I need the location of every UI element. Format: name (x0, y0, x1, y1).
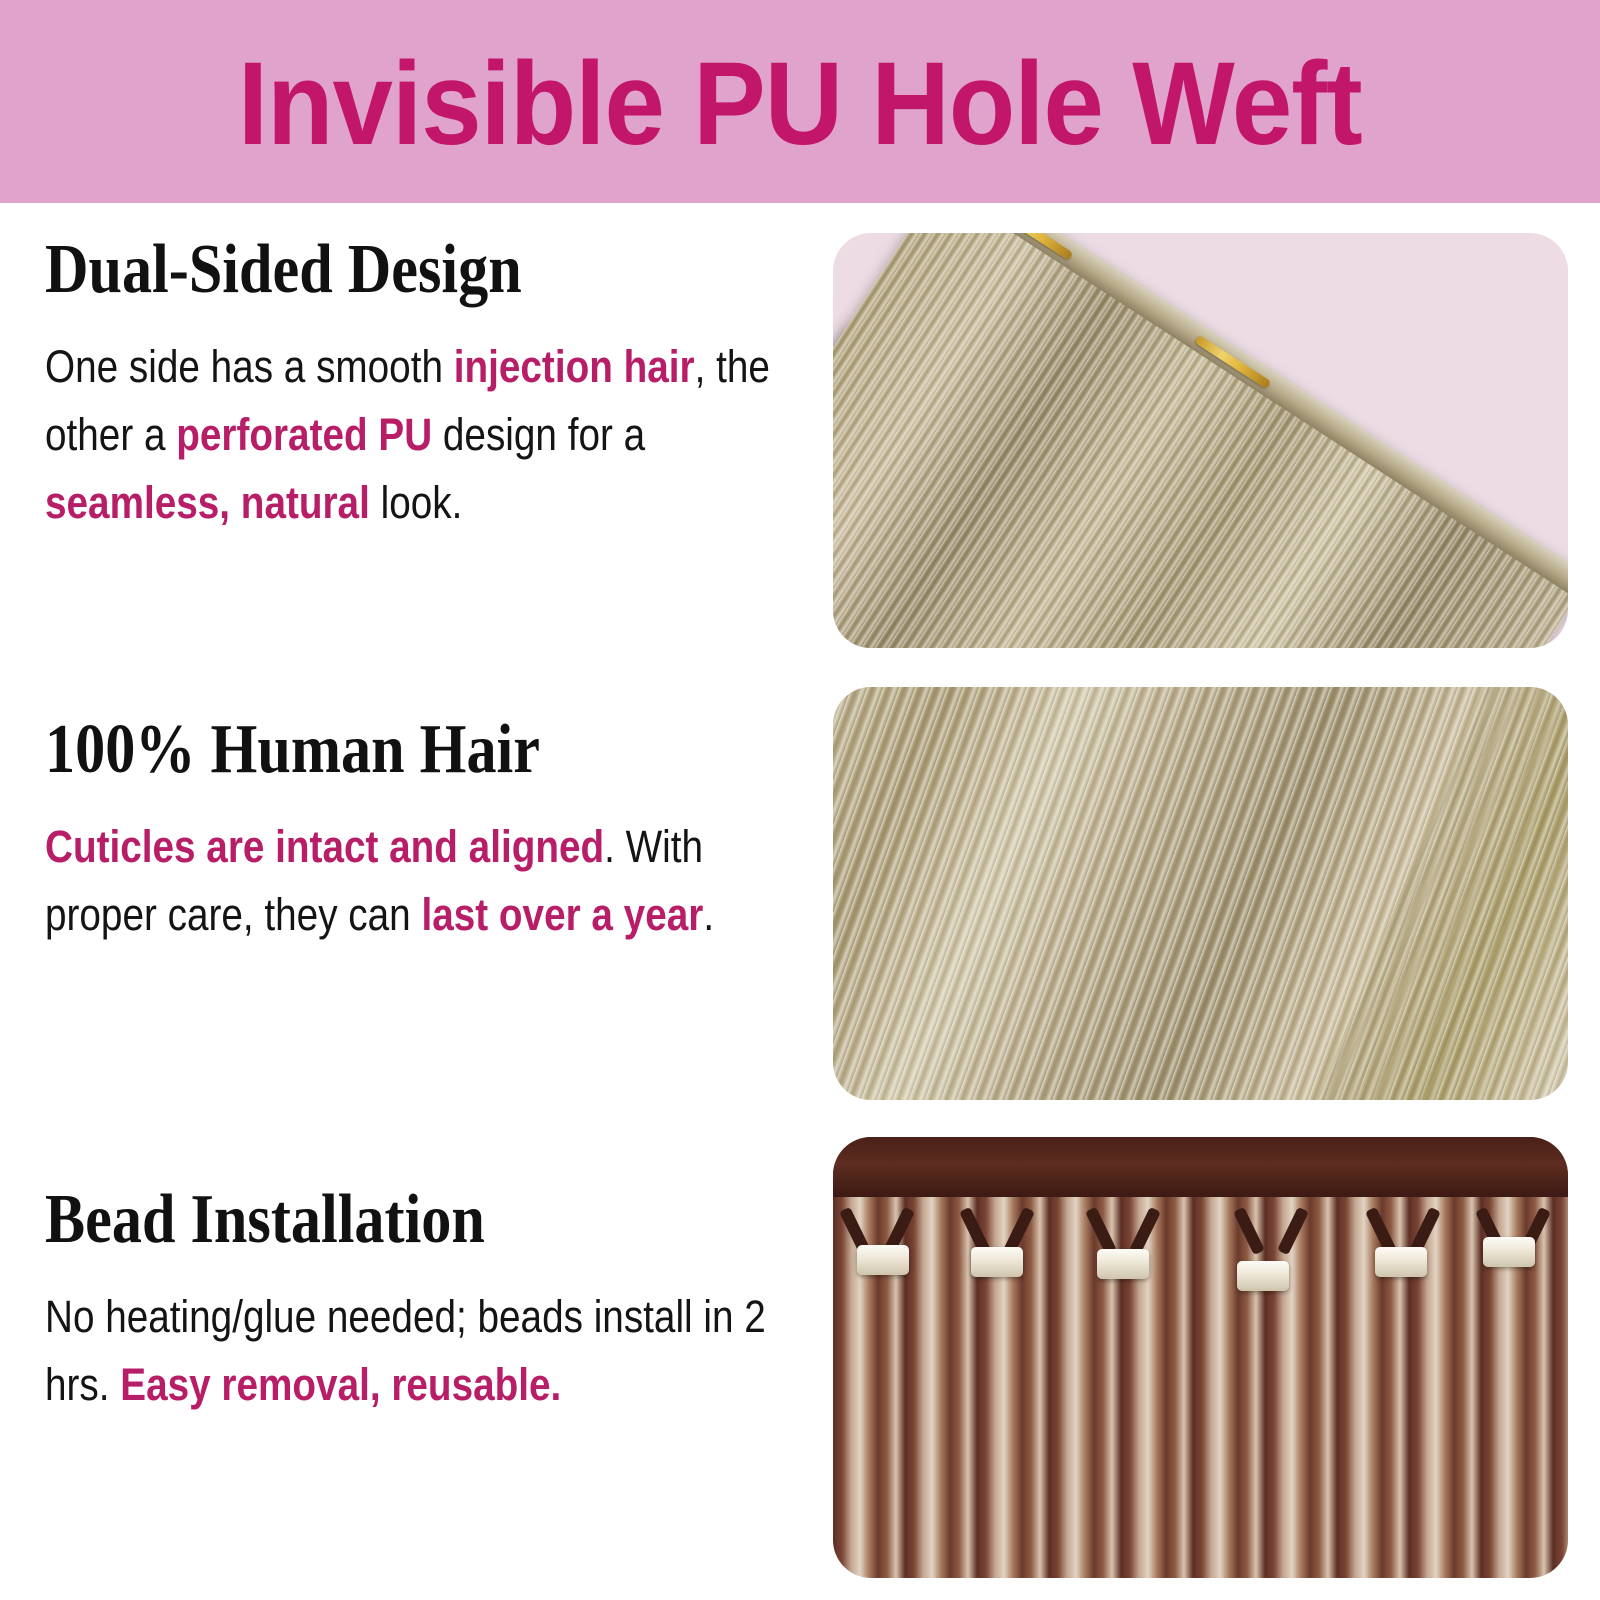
feature-body: One side has a smooth injection hair, th… (45, 333, 819, 538)
body-part: . (703, 889, 714, 940)
feature-image-column (833, 203, 1568, 1600)
body-part-highlight: Cuticles are intact and aligned (45, 821, 604, 872)
body-part-highlight: Easy removal, reusable. (120, 1359, 561, 1410)
bead-strand (851, 1185, 971, 1578)
feature-heading: Dual-Sided Design (45, 233, 724, 307)
page-title: Invisible PU Hole Weft (238, 45, 1362, 163)
bead-strand (1091, 1185, 1211, 1578)
hair-closeup-photo (833, 687, 1568, 1100)
feature-section-human-hair: 100% Human Hair Cuticles are intact and … (45, 713, 835, 949)
micro-bead (857, 1245, 909, 1275)
body-part-highlight: perforated PU (176, 409, 432, 460)
body-part: One side has a smooth (45, 341, 454, 392)
micro-bead (1237, 1261, 1289, 1291)
micro-bead (1097, 1249, 1149, 1279)
bead-install-photo (833, 1137, 1568, 1578)
product-photo-human-hair (833, 687, 1568, 1100)
product-photo-dual-sided-weft (833, 233, 1568, 648)
bead-strand (1233, 1185, 1353, 1578)
feature-text-column: Dual-Sided Design One side has a smooth … (45, 203, 835, 1600)
header-banner: Invisible PU Hole Weft (0, 0, 1600, 203)
weft-strip-back (833, 233, 1568, 648)
bead-strand (1495, 1185, 1568, 1578)
content-area: Dual-Sided Design One side has a smooth … (0, 203, 1600, 1600)
micro-bead (1375, 1247, 1427, 1277)
feature-section-bead-installation: Bead Installation No heating/glue needed… (45, 1183, 835, 1419)
body-part-highlight: last over a year (421, 889, 703, 940)
bead-strand (1371, 1185, 1491, 1578)
micro-bead (971, 1247, 1023, 1277)
body-part-highlight: seamless, natural (45, 477, 370, 528)
body-part: design for a (432, 409, 645, 460)
weft-pu-edge (939, 233, 1568, 599)
feature-section-dual-sided-design: Dual-Sided Design One side has a smooth … (45, 233, 835, 538)
micro-bead (1483, 1237, 1535, 1267)
feature-body: Cuticles are intact and aligned. With pr… (45, 813, 819, 950)
weft-photo (833, 233, 1568, 648)
product-photo-bead-installation (833, 1137, 1568, 1578)
micro-hook-icon (1239, 1207, 1303, 1259)
bead-strand (961, 1185, 1081, 1578)
body-part: look. (370, 477, 463, 528)
feature-heading: Bead Installation (45, 1183, 724, 1257)
feature-body: No heating/glue needed; beads install in… (45, 1283, 819, 1420)
feature-heading: 100% Human Hair (45, 713, 724, 787)
body-part-highlight: injection hair (454, 341, 695, 392)
